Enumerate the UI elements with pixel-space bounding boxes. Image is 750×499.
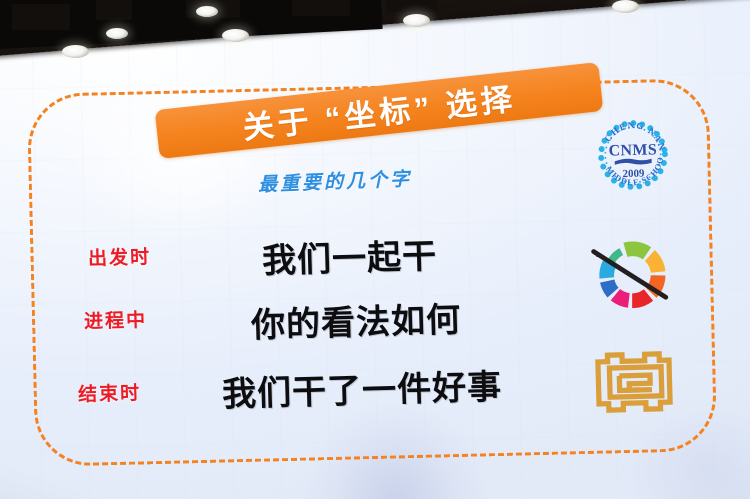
emblem-acronym: CNMS: [608, 141, 657, 159]
gold-maze-seal-icon: [591, 342, 677, 422]
row-text-progress: 你的看法如何: [250, 292, 461, 347]
row-label-start: 出发时: [88, 242, 152, 271]
row-text-start: 我们一起干: [261, 229, 437, 283]
row-label-end: 结束时: [78, 378, 142, 407]
color-wheel-compass-icon: [581, 227, 687, 320]
row-text-end: 我们干了一件好事: [221, 359, 502, 416]
cnms-school-emblem-icon: CHENG NAN MIDDLE SCHOOL CNMS 2009: [590, 112, 676, 198]
emblem-year: 2009: [622, 168, 645, 181]
presentation-photo: 关于 “坐标” 选择 最重要的几个字 出发时 我们一起干 进程中 你的看法如何 …: [0, 0, 750, 499]
row-label-progress: 进程中: [84, 305, 148, 334]
